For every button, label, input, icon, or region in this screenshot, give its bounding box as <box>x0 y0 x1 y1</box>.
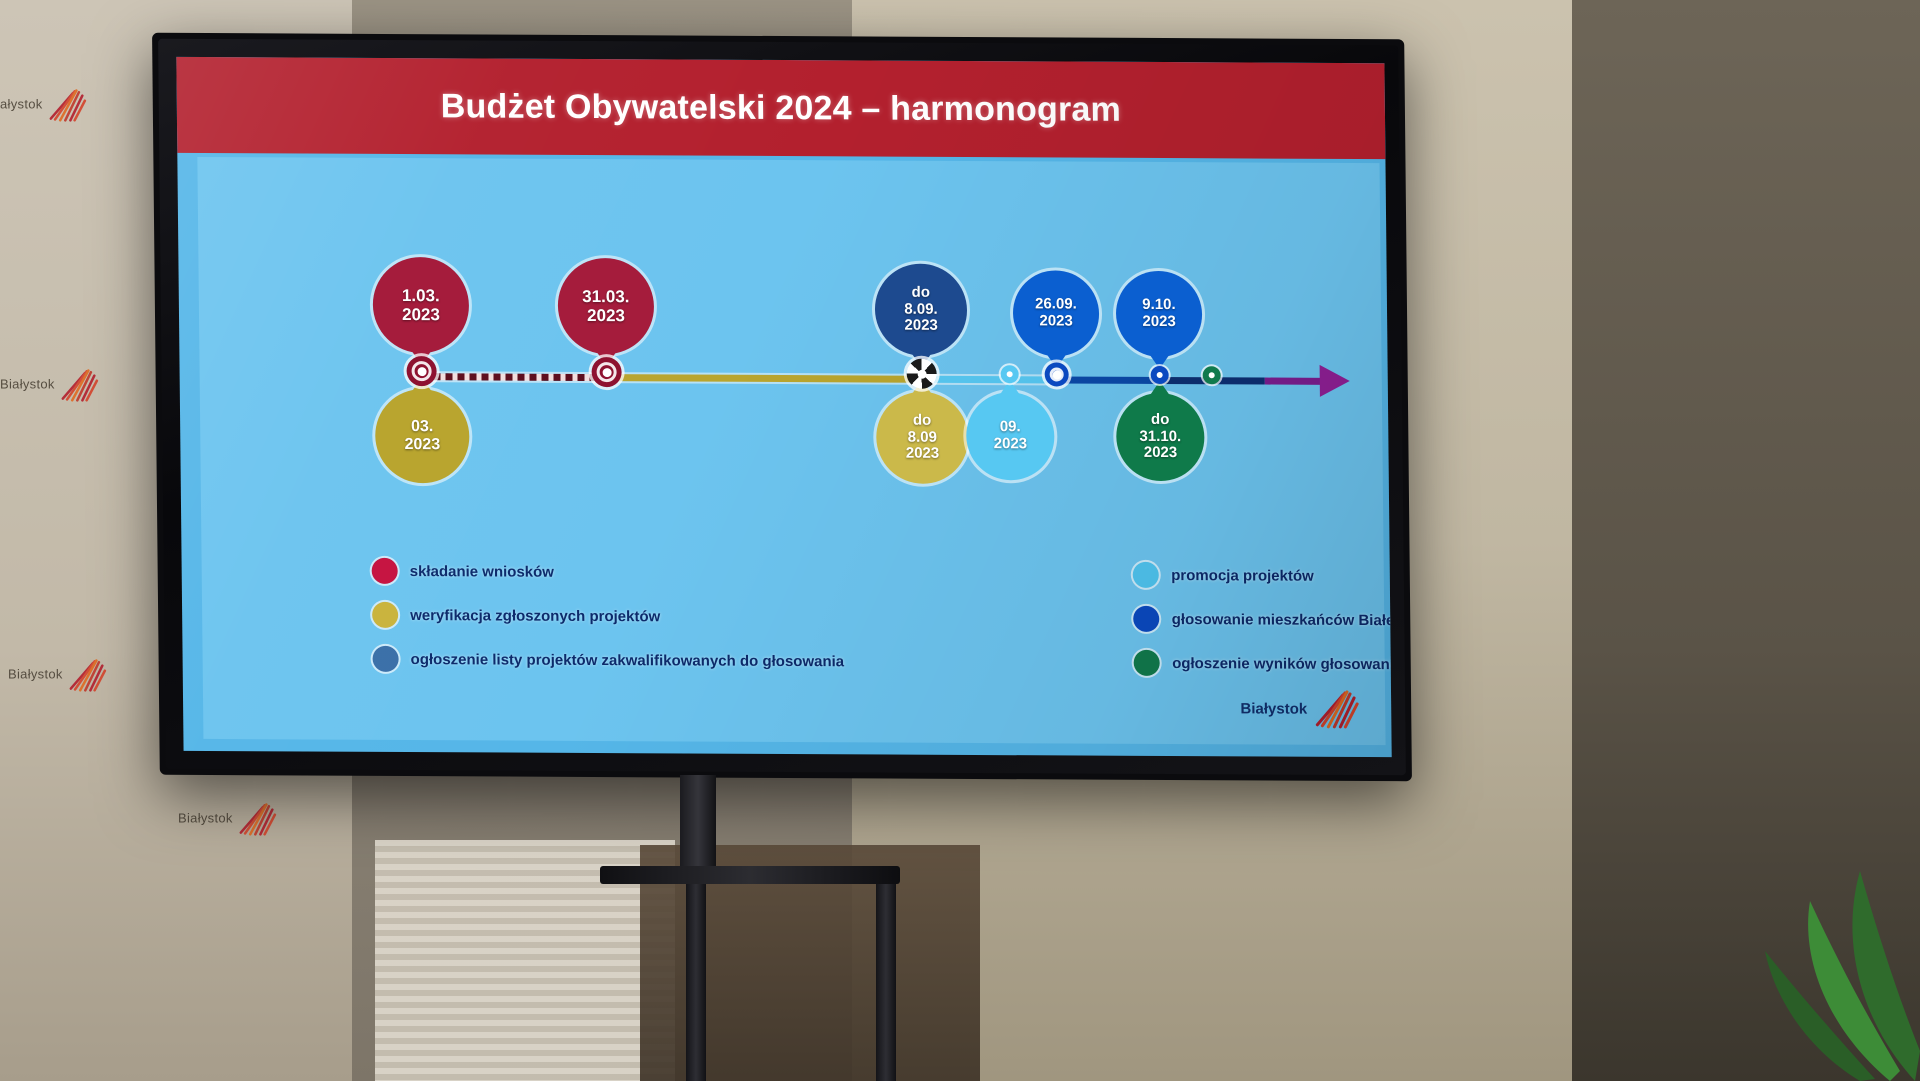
tv-stand-base <box>600 866 900 884</box>
legend-item-label: ogłoszenie wyników głosowania <box>1172 655 1392 673</box>
milestone-line: do <box>1151 412 1170 429</box>
timeline-segment-end <box>1265 378 1325 385</box>
legend-item-label: składanie wniosków <box>410 563 554 581</box>
milestone-line: do <box>912 284 931 301</box>
legend-item-label: głosowanie mieszkańców Białegostoku <box>1172 611 1392 629</box>
timeline-node-5[interactable] <box>1151 366 1169 384</box>
wall-logo-text: Białystok <box>8 666 63 681</box>
television: Budżet Obywatelski 2024 – harmonogram <box>152 33 1412 782</box>
tv-stand-left-leg <box>686 866 706 1081</box>
timeline-segment-voting <box>1057 376 1160 384</box>
slide-logo-text: Białystok <box>1240 700 1307 717</box>
milestone-line: 03. <box>411 418 433 436</box>
milestone-bubble-m7[interactable]: 9.10.2023 <box>1116 271 1203 357</box>
timeline-node-6[interactable] <box>1203 366 1221 384</box>
timeline-segment-promotion <box>922 376 1057 384</box>
wall-logo-2: Białystok <box>0 368 99 402</box>
milestone-line: 2023 <box>1142 314 1176 331</box>
milestone-line: 8.09 <box>908 429 937 446</box>
legend-item-label: weryfikacja zgłoszonych projektów <box>410 607 660 625</box>
bialystok-burst-icon <box>59 368 99 402</box>
wall-logo-text: ałystok <box>0 96 43 111</box>
milestone-line: 31.10. <box>1139 428 1181 445</box>
legend-item-right-1[interactable]: promocja projektów <box>1133 562 1392 590</box>
presentation-slide: Budżet Obywatelski 2024 – harmonogram <box>176 57 1391 757</box>
legend-column-left: składanie wnioskówweryfikacja zgłoszonyc… <box>372 558 845 674</box>
milestone-line: 31.03. <box>582 287 629 306</box>
timeline-segment-verification <box>607 374 922 383</box>
milestone-line: 9.10. <box>1142 297 1176 314</box>
slide-header: Budżet Obywatelski 2024 – harmonogram <box>176 57 1385 159</box>
legend-item-label: promocja projektów <box>1171 567 1314 585</box>
milestone-bubble-m4[interactable]: do8.09.2023 <box>875 264 968 356</box>
timeline-arrow-icon <box>1320 365 1350 397</box>
legend-item-left-3[interactable]: ogłoszenie listy projektów zakwalifikowa… <box>372 646 844 674</box>
wall-logo-text: Białystok <box>178 810 233 825</box>
legend: składanie wnioskówweryfikacja zgłoszonyc… <box>372 558 1345 677</box>
milestone-line: do <box>913 412 932 429</box>
page-title: Budżet Obywatelski 2024 – harmonogram <box>441 87 1122 130</box>
timeline-node-gear-icon[interactable] <box>907 359 937 389</box>
legend-item-label: ogłoszenie listy projektów zakwalifikowa… <box>411 651 845 670</box>
milestone-line: 2023 <box>1144 445 1178 462</box>
timeline-segment-applications <box>422 373 607 381</box>
wall-logo-3: Białystok <box>8 658 107 692</box>
tv-stand-right-leg <box>876 866 896 1081</box>
milestone-line: 8.09. <box>904 301 938 318</box>
milestone-bubble-m3[interactable]: 03.2023 <box>375 389 470 483</box>
plant-decoration <box>1560 751 1920 1081</box>
timeline-node-1[interactable] <box>406 356 436 386</box>
milestone-line: 1.03. <box>402 286 440 305</box>
slide-logo: Białystok <box>1240 688 1359 729</box>
milestone-line: 2023 <box>906 446 940 463</box>
milestone-line: 26.09. <box>1035 297 1077 314</box>
legend-color-swatch <box>372 558 398 584</box>
legend-item-left-2[interactable]: weryfikacja zgłoszonych projektów <box>372 602 844 630</box>
bialystok-burst-icon <box>237 802 277 836</box>
milestone-bubble-m9[interactable]: do31.10.2023 <box>1116 393 1205 481</box>
milestone-bubble-m5[interactable]: do8.092023 <box>876 391 969 483</box>
legend-item-right-2[interactable]: głosowanie mieszkańców Białegostoku <box>1134 606 1392 634</box>
milestone-bubble-m8[interactable]: 09.2023 <box>966 392 1055 480</box>
milestone-bubble-m2[interactable]: 31.03.2023 <box>557 258 654 354</box>
milestone-line: 2023 <box>402 305 440 324</box>
milestone-line: 2023 <box>994 436 1028 453</box>
milestone-line: 2023 <box>904 318 938 335</box>
wall-logo-text: Białystok <box>0 376 55 391</box>
legend-color-swatch <box>1134 650 1160 676</box>
legend-item-right-3[interactable]: ogłoszenie wyników głosowania <box>1134 650 1392 678</box>
legend-color-swatch <box>372 602 398 628</box>
room-background: ałystokBiałystokBiałystokBiałystok Budże… <box>0 0 1920 1081</box>
wall-logo-1: ałystok <box>0 88 87 122</box>
timeline-node-2[interactable] <box>591 357 621 387</box>
legend-color-swatch <box>372 646 398 672</box>
milestone-line: 2023 <box>1039 313 1073 330</box>
wall-logo-4: Białystok <box>178 802 277 836</box>
bialystok-burst-icon <box>47 88 87 122</box>
bialystok-burst-icon <box>1313 689 1359 729</box>
tv-screen: Budżet Obywatelski 2024 – harmonogram <box>176 57 1391 757</box>
legend-color-swatch <box>1133 562 1159 588</box>
legend-color-swatch <box>1134 606 1160 632</box>
milestone-line: 09. <box>1000 419 1021 436</box>
milestone-bubble-m6[interactable]: 26.09.2023 <box>1013 270 1100 356</box>
legend-column-right: promocja projektówgłosowanie mieszkańców… <box>1133 562 1392 678</box>
timeline-node-3[interactable] <box>1001 365 1019 383</box>
timeline-node-4[interactable] <box>1045 362 1069 386</box>
bialystok-burst-icon <box>67 658 107 692</box>
slide-body: 1.03.202331.03.2023do8.09.202326.09.2023… <box>197 157 1385 745</box>
milestone-line: 2023 <box>587 306 625 325</box>
milestone-bubble-m1[interactable]: 1.03.2023 <box>372 257 469 353</box>
legend-item-left-1[interactable]: składanie wniosków <box>372 558 844 586</box>
milestone-line: 2023 <box>404 436 440 454</box>
